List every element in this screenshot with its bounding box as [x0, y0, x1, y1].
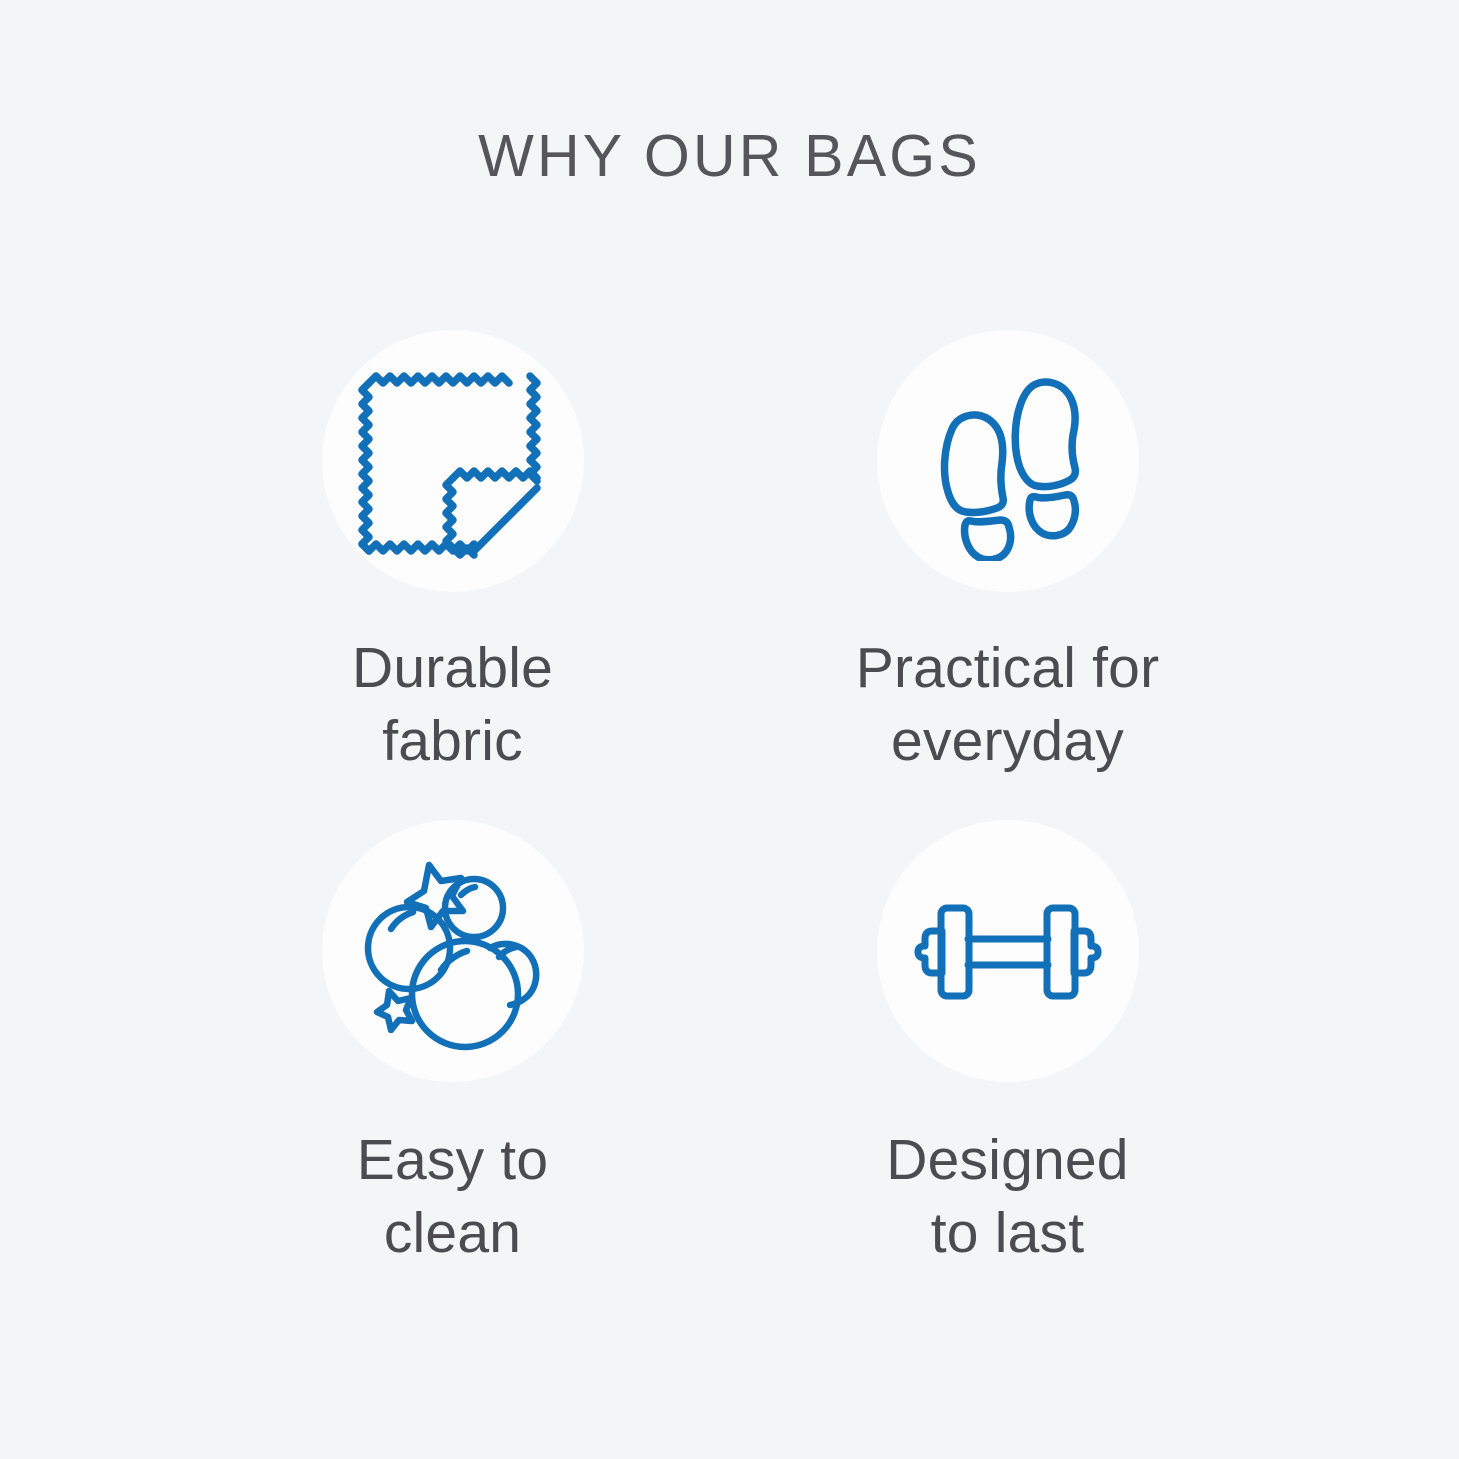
icon-circle-designed-to-last — [877, 820, 1139, 1082]
dumbbell-icon — [908, 851, 1108, 1051]
feature-card-durable-fabric: Durable fabric — [175, 330, 730, 820]
feature-label-easy-to-clean: Easy to clean — [357, 1124, 549, 1270]
page-title: WHY OUR BAGS — [0, 124, 1459, 189]
feature-card-designed-to-last: Designed to last — [730, 820, 1285, 1310]
feature-label-durable-fabric: Durable fabric — [352, 632, 553, 778]
soap-bubbles-icon — [353, 851, 553, 1051]
feature-card-easy-to-clean: Easy to clean — [175, 820, 730, 1310]
features-grid: Durable fabric — [175, 330, 1285, 1310]
feature-label-line-1: Durable — [352, 632, 553, 705]
footprints-icon — [908, 361, 1108, 561]
feature-label-line-2: fabric — [352, 705, 553, 778]
feature-label-line-1: Practical for — [856, 632, 1160, 705]
icon-circle-easy-to-clean — [322, 820, 584, 1082]
feature-label-line-1: Easy to — [357, 1124, 549, 1197]
icon-circle-durable-fabric — [322, 330, 584, 592]
feature-label-designed-to-last: Designed to last — [886, 1124, 1128, 1270]
icon-circle-practical-for-everyday — [877, 330, 1139, 592]
feature-label-line-2: to last — [886, 1197, 1128, 1270]
fabric-swatch-icon — [353, 361, 553, 561]
feature-label-line-1: Designed — [886, 1124, 1128, 1197]
feature-card-practical-for-everyday: Practical for everyday — [730, 330, 1285, 820]
feature-label-line-2: clean — [357, 1197, 549, 1270]
feature-label-practical-for-everyday: Practical for everyday — [856, 632, 1160, 778]
why-our-bags-panel: WHY OUR BAGS — [0, 0, 1459, 1459]
feature-label-line-2: everyday — [856, 705, 1160, 778]
